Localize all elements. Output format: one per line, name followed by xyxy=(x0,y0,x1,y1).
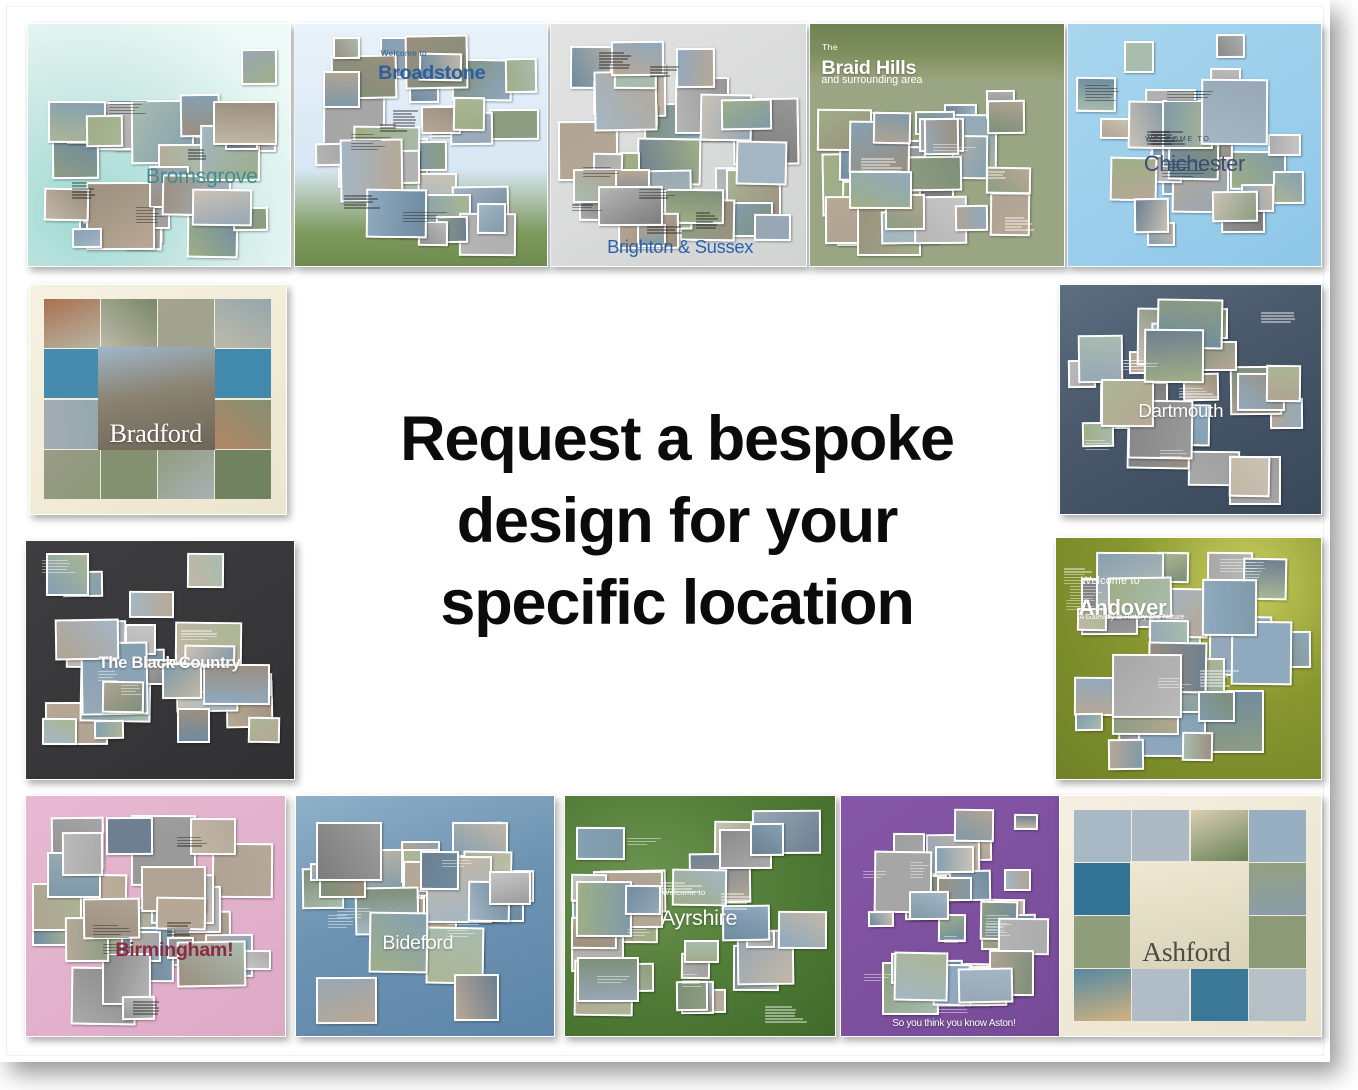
poster-photo xyxy=(955,204,988,231)
poster-photo xyxy=(101,299,157,348)
poster-content: Ashford xyxy=(1060,796,1321,1036)
poster-photo xyxy=(215,400,271,449)
poster-photo xyxy=(958,967,1014,1003)
poster-photo xyxy=(1268,134,1301,156)
poster-photo xyxy=(849,171,912,210)
poster-caption-text xyxy=(328,915,353,930)
poster-photo xyxy=(1132,969,1189,1021)
poster-title-bromsgrove: Bromsgrove xyxy=(146,164,258,189)
poster-tile-birmingham[interactable]: Birmingham! xyxy=(25,795,286,1037)
poster-caption-text xyxy=(988,171,1014,180)
poster-caption-text xyxy=(181,630,219,642)
poster-content: Welcome toAyrshire xyxy=(565,796,835,1036)
poster-caption-text xyxy=(403,212,448,224)
poster-title-chichester: Chichester xyxy=(1144,151,1245,177)
poster-caption-text xyxy=(136,207,167,225)
poster-photo xyxy=(1201,579,1256,637)
poster-caption-text xyxy=(1005,217,1035,232)
poster-photo xyxy=(316,977,377,1024)
poster-title-bradford: Bradford xyxy=(109,419,202,449)
headline-line-1: Request a bespoke xyxy=(297,399,1057,481)
poster-photo xyxy=(1249,916,1306,968)
poster-photo xyxy=(452,97,485,131)
poster-photo xyxy=(213,101,277,145)
poster-photo xyxy=(504,58,537,93)
poster-photo xyxy=(868,911,894,927)
poster-title-broadstone: Broadstone xyxy=(378,62,485,85)
poster-caption-text xyxy=(627,838,662,847)
poster-photo xyxy=(243,950,271,970)
poster-caption-text xyxy=(393,110,421,128)
poster-caption-text xyxy=(442,860,473,869)
poster-photo xyxy=(86,115,123,148)
poster-subtitle-andover: Welcome to xyxy=(1081,575,1140,587)
poster-caption-text xyxy=(42,560,79,575)
poster-gallery-page: BromsgroveWelcome toBroadstoneBrighton &… xyxy=(0,0,1330,1062)
poster-photo xyxy=(44,349,100,398)
poster-photo xyxy=(129,591,174,618)
poster-photo xyxy=(323,71,360,108)
poster-photo xyxy=(684,940,719,963)
poster-caption-text xyxy=(650,66,682,78)
poster-photo xyxy=(1074,863,1131,915)
poster-photo xyxy=(42,718,77,745)
poster-photo xyxy=(778,910,827,948)
poster-title-ayrshire: Ayrshire xyxy=(661,905,737,931)
poster-photo xyxy=(44,400,100,449)
poster-title-brighton-sussex: Brighton & Sussex xyxy=(607,236,753,258)
poster-subtitle-chichester: WELCOME TO xyxy=(1145,134,1210,143)
poster-caption-text xyxy=(72,182,98,200)
poster-subtitle2-braid-hills: and surrounding area xyxy=(821,74,922,86)
poster-caption-text xyxy=(572,204,602,213)
poster-caption-text xyxy=(985,923,1011,938)
poster-photo xyxy=(894,952,949,1002)
poster-content: Brighton & Sussex xyxy=(551,24,806,266)
poster-tile-braid-hills[interactable]: TheBraid Hillsand surrounding area xyxy=(809,23,1065,267)
poster-content: WELCOME TOChichester xyxy=(1068,24,1321,266)
poster-photo xyxy=(489,109,539,140)
poster-content: TheBraid Hillsand surrounding area xyxy=(810,24,1064,266)
poster-caption-text xyxy=(177,837,216,849)
poster-title-birmingham: Birmingham! xyxy=(115,939,233,962)
poster-title-black-country: The Black Country xyxy=(98,653,240,673)
poster-caption-text xyxy=(910,862,930,880)
poster-tile-dartmouth[interactable]: Dartmouth xyxy=(1059,284,1322,515)
poster-photo xyxy=(1074,810,1131,862)
poster-content: Bideford xyxy=(296,796,554,1036)
poster-caption-text xyxy=(167,922,191,937)
poster-photo xyxy=(1014,813,1038,830)
poster-tile-ayrshire[interactable]: Welcome toAyrshire xyxy=(564,795,836,1037)
poster-tile-bradford[interactable]: Bradford xyxy=(29,284,287,515)
poster-title-ashford: Ashford xyxy=(1142,936,1230,968)
poster-caption-text xyxy=(935,1006,970,1015)
poster-photo xyxy=(754,213,791,240)
poster-photo xyxy=(907,155,962,191)
poster-content: Dartmouth xyxy=(1060,285,1321,514)
poster-photo xyxy=(158,299,214,348)
poster-photo xyxy=(1144,329,1204,383)
poster-caption-text xyxy=(188,149,215,161)
poster-tile-chichester[interactable]: WELCOME TOChichester xyxy=(1067,23,1322,267)
poster-photo xyxy=(1074,916,1131,968)
poster-photo xyxy=(94,719,124,739)
poster-photo xyxy=(1191,969,1248,1021)
poster-caption-text xyxy=(765,1006,811,1024)
poster-caption-text xyxy=(861,158,904,173)
poster-photo xyxy=(44,450,100,499)
poster-caption-text xyxy=(639,189,679,201)
poster-content: Bradford xyxy=(30,285,286,514)
poster-caption-text xyxy=(1124,360,1161,369)
poster-subtitle2-andover: A Gateway to History and Nature xyxy=(1079,612,1184,621)
poster-photo xyxy=(315,143,343,167)
poster-tile-andover[interactable]: Welcome toAndoverA Gateway to History an… xyxy=(1055,537,1322,780)
poster-photo xyxy=(1074,969,1131,1021)
poster-content: Welcome toAndoverA Gateway to History an… xyxy=(1056,538,1321,779)
poster-tile-ashford[interactable]: Ashford xyxy=(1059,795,1322,1037)
poster-photo xyxy=(1212,191,1258,223)
headline-line-2: design for your xyxy=(297,481,1057,563)
poster-photo xyxy=(489,871,531,905)
poster-photo xyxy=(909,890,949,919)
poster-photo xyxy=(215,299,271,348)
poster-caption-text xyxy=(1167,91,1211,103)
poster-photo xyxy=(101,450,157,499)
poster-tile-brighton-sussex[interactable]: Brighton & Sussex xyxy=(550,23,807,267)
poster-photo xyxy=(986,100,1024,135)
poster-tile-bromsgrove[interactable]: Bromsgrove xyxy=(27,23,291,267)
poster-tile-aston[interactable]: So you think you know Aston! xyxy=(840,795,1060,1037)
poster-photo xyxy=(477,203,507,234)
poster-content: Birmingham! xyxy=(26,796,285,1036)
poster-photo xyxy=(215,349,271,398)
poster-caption-text xyxy=(1261,312,1298,324)
poster-photo xyxy=(1198,691,1235,722)
poster-caption-text xyxy=(1158,678,1192,690)
poster-photo xyxy=(192,189,253,227)
poster-gallery-surface: BromsgroveWelcome toBroadstoneBrighton &… xyxy=(6,6,1324,1056)
poster-photo xyxy=(44,299,100,348)
poster-photo xyxy=(420,851,460,890)
poster-caption-text xyxy=(1085,440,1118,452)
screenshot-canvas: BromsgroveWelcome toBroadstoneBrighton &… xyxy=(0,0,1358,1090)
poster-photo xyxy=(1216,34,1245,58)
poster-caption-text xyxy=(647,226,687,235)
poster-caption-text xyxy=(133,1001,164,1016)
poster-caption-text xyxy=(1085,85,1121,103)
poster-content: Welcome toBroadstone xyxy=(295,24,547,266)
poster-caption-text xyxy=(1200,670,1240,688)
poster-photo xyxy=(954,809,995,842)
poster-caption-text xyxy=(863,871,893,880)
poster-caption-text xyxy=(944,936,966,945)
poster-photo xyxy=(1249,863,1306,915)
poster-caption-text xyxy=(933,144,976,153)
poster-photo xyxy=(72,228,103,248)
poster-content: Bromsgrove xyxy=(28,24,290,266)
poster-photo xyxy=(187,553,224,588)
poster-subtitle-braid-hills: The xyxy=(822,42,838,52)
poster-photo xyxy=(1133,198,1169,233)
poster-photo xyxy=(1181,732,1213,762)
poster-caption-text xyxy=(344,195,380,210)
poster-photo xyxy=(1266,365,1302,402)
poster-caption-text xyxy=(1243,562,1267,580)
poster-photo xyxy=(576,881,632,937)
poster-caption-text xyxy=(1179,388,1220,400)
poster-caption-text xyxy=(121,682,146,697)
poster-photo xyxy=(1191,810,1248,862)
poster-subtitle-broadstone: Welcome to xyxy=(381,49,427,58)
poster-photo xyxy=(1249,969,1306,1021)
poster-content: So you think you know Aston! xyxy=(841,796,1059,1036)
poster-caption-text xyxy=(599,52,634,70)
poster-photo xyxy=(935,846,974,874)
poster-photo xyxy=(215,450,271,499)
poster-title-dartmouth: Dartmouth xyxy=(1138,400,1223,422)
poster-photo xyxy=(62,831,104,875)
poster-photo xyxy=(1107,739,1143,770)
poster-photo xyxy=(1201,79,1268,145)
poster-tile-bideford[interactable]: Bideford xyxy=(295,795,555,1037)
poster-photo xyxy=(676,47,715,88)
poster-photo xyxy=(316,822,382,881)
poster-photo xyxy=(158,450,214,499)
poster-photo xyxy=(872,111,911,144)
poster-tile-broadstone[interactable]: Welcome toBroadstone xyxy=(294,23,548,267)
poster-photo xyxy=(240,49,276,85)
poster-content: The Black Country xyxy=(26,541,294,779)
poster-photo xyxy=(576,827,625,860)
poster-photo xyxy=(248,716,281,743)
poster-caption-text xyxy=(682,974,707,989)
poster-caption-text xyxy=(627,929,653,938)
poster-title-aston: So you think you know Aston! xyxy=(892,1018,1015,1029)
poster-caption-text xyxy=(1160,450,1196,459)
poster-photo xyxy=(106,817,153,856)
poster-photo xyxy=(1229,455,1271,497)
poster-caption-text xyxy=(696,212,720,230)
poster-subtitle-ayrshire: Welcome to xyxy=(662,888,705,897)
page-headline: Request a bespoke design for your specif… xyxy=(297,399,1057,645)
poster-photo xyxy=(750,823,784,857)
poster-caption-text xyxy=(864,974,895,983)
poster-photo xyxy=(1077,335,1123,383)
poster-caption-text xyxy=(351,134,392,152)
poster-photo xyxy=(1132,810,1189,862)
poster-title-bideford: Bideford xyxy=(382,932,453,955)
poster-photo xyxy=(1249,810,1306,862)
headline-line-3: specific location xyxy=(297,563,1057,645)
poster-caption-text xyxy=(597,976,630,985)
poster-photo xyxy=(1075,713,1103,732)
poster-caption-text xyxy=(583,167,623,179)
poster-photo xyxy=(625,885,661,915)
poster-photo xyxy=(333,37,361,60)
poster-caption-text xyxy=(109,101,154,116)
poster-caption-text xyxy=(93,925,132,940)
poster-photo xyxy=(736,140,788,185)
poster-photo xyxy=(454,974,500,1021)
poster-photo xyxy=(1124,41,1154,73)
poster-photo xyxy=(1004,869,1031,891)
poster-photo xyxy=(721,99,772,131)
poster-tile-black-country[interactable]: The Black Country xyxy=(25,540,295,780)
poster-photo xyxy=(1273,171,1305,204)
poster-photo xyxy=(177,708,210,743)
